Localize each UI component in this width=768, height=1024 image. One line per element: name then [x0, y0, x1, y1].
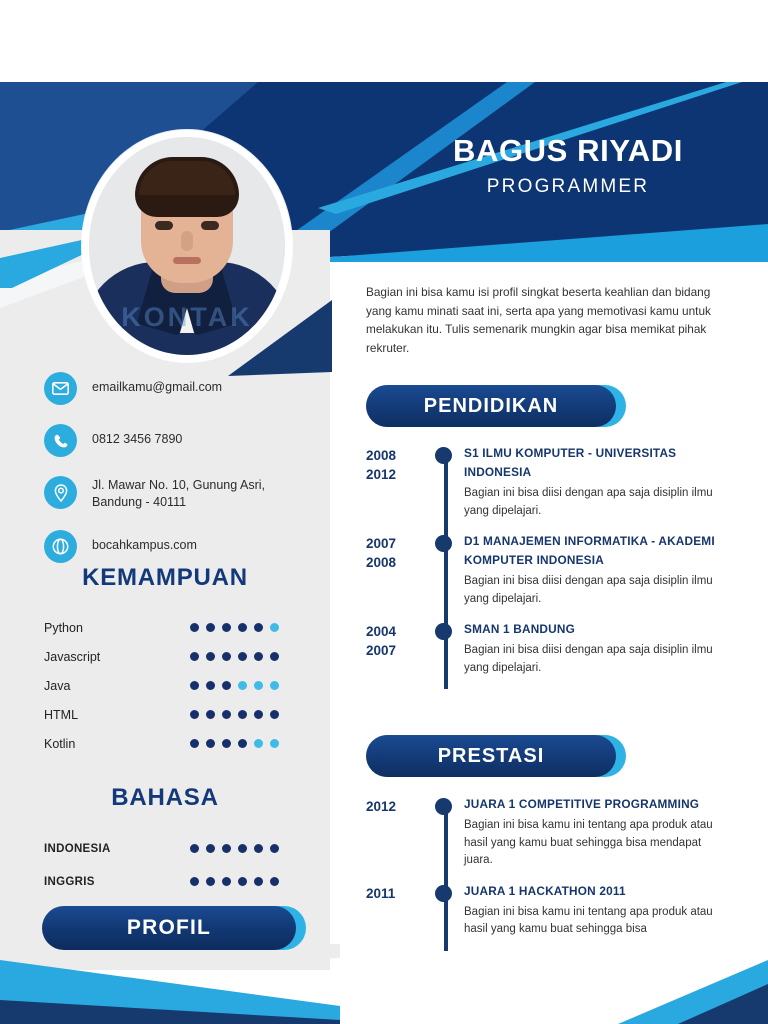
rating-dot	[190, 681, 199, 690]
contact-item-website[interactable]: bocahkampus.com	[44, 530, 314, 563]
timeline-years: 2012	[366, 795, 430, 870]
phone-icon	[44, 424, 77, 457]
timeline-body: S1 ILMU KOMPUTER - UNIVERSITAS INDONESIA…	[460, 444, 716, 520]
skill-row: Javascript	[44, 642, 296, 671]
section-title-education: PENDIDIKAN	[424, 395, 558, 418]
language-rating	[190, 877, 296, 886]
timeline-body: SMAN 1 BANDUNGBagian ini bisa diisi deng…	[460, 620, 716, 677]
avatar-photo: KONTAK	[89, 137, 285, 355]
contact-value-email: emailkamu@gmail.com	[92, 372, 222, 396]
rating-dot	[190, 877, 199, 886]
education-timeline: 20082012S1 ILMU KOMPUTER - UNIVERSITAS I…	[366, 444, 716, 689]
banner-face: PRESTASI	[366, 735, 616, 777]
rating-dot	[254, 623, 263, 632]
rating-dot	[206, 877, 215, 886]
rating-dot	[206, 652, 215, 661]
rating-dot	[254, 877, 263, 886]
timeline-dot-column	[430, 795, 460, 870]
timeline-heading: D1 MANAJEMEN INFORMATIKA - AKADEMI KOMPU…	[464, 532, 716, 570]
timeline-description: Bagian ini bisa kamu ini tentang apa pro…	[464, 904, 716, 939]
profile-summary: Bagian ini bisa kamu isi profil singkat …	[366, 283, 714, 357]
profil-button-label: PROFIL	[127, 916, 211, 940]
language-rating	[190, 844, 296, 853]
skill-row: HTML	[44, 700, 296, 729]
languages-list: INDONESIAINGGRIS	[44, 832, 296, 898]
skill-rating	[190, 623, 296, 632]
rating-dot	[254, 844, 263, 853]
timeline-heading: JUARA 1 HACKATHON 2011	[464, 882, 716, 901]
timeline-description: Bagian ini bisa diisi dengan apa saja di…	[464, 642, 716, 677]
contact-list: emailkamu@gmail.com 0812 3456 7890 Jl. M…	[44, 372, 314, 582]
profil-button[interactable]: PROFIL	[42, 906, 296, 950]
skills-list: PythonJavascriptJavaHTMLKotlin	[44, 613, 296, 758]
rating-dot	[222, 739, 231, 748]
photo-eye-left	[155, 221, 173, 230]
skill-rating	[190, 710, 296, 719]
language-label: INDONESIA	[44, 843, 190, 855]
rating-dot	[238, 710, 247, 719]
timeline-description: Bagian ini bisa kamu ini tentang apa pro…	[464, 817, 716, 870]
timeline-year-start: 2011	[366, 884, 430, 903]
location-icon	[44, 476, 77, 509]
rating-dot	[254, 739, 263, 748]
rating-dot	[206, 623, 215, 632]
skill-label: Java	[44, 679, 190, 693]
timeline-dot	[435, 798, 452, 815]
rating-dot	[270, 623, 279, 632]
rating-dot	[238, 652, 247, 661]
language-row: INDONESIA	[44, 832, 296, 865]
rating-dot	[238, 739, 247, 748]
timeline-dot	[435, 623, 452, 640]
skill-row: Python	[44, 613, 296, 642]
globe-icon	[44, 530, 77, 563]
rating-dot	[206, 710, 215, 719]
contact-item-location[interactable]: Jl. Mawar No. 10, Gunung Asri, Bandung -…	[44, 476, 314, 511]
skill-label: Kotlin	[44, 737, 190, 751]
avatar: KONTAK	[82, 130, 292, 362]
timeline-heading: SMAN 1 BANDUNG	[464, 620, 716, 639]
skill-row: Kotlin	[44, 729, 296, 758]
timeline-years: 20042007	[366, 620, 430, 677]
languages-title: BAHASA	[0, 784, 330, 812]
timeline-years: 2011	[366, 882, 430, 939]
rating-dot	[190, 844, 199, 853]
skill-rating	[190, 681, 296, 690]
rating-dot	[222, 710, 231, 719]
skill-label: Javascript	[44, 650, 190, 664]
contact-value-location: Jl. Mawar No. 10, Gunung Asri, Bandung -…	[92, 476, 314, 511]
rating-dot	[222, 623, 231, 632]
timeline-year-start: 2004	[366, 622, 430, 641]
rating-dot	[270, 681, 279, 690]
contact-value-phone: 0812 3456 7890	[92, 424, 182, 448]
timeline-description: Bagian ini bisa diisi dengan apa saja di…	[464, 573, 716, 608]
timeline-item: 20042007SMAN 1 BANDUNGBagian ini bisa di…	[366, 620, 716, 677]
timeline-years: 20082012	[366, 444, 430, 520]
timeline-dot-column	[430, 532, 460, 608]
rating-dot	[238, 681, 247, 690]
rating-dot	[238, 877, 247, 886]
timeline-year-end: 2008	[366, 553, 430, 572]
rating-dot	[222, 844, 231, 853]
timeline-year-end: 2012	[366, 465, 430, 484]
photo-nose	[181, 231, 193, 251]
rating-dot	[270, 652, 279, 661]
language-label: INGGRIS	[44, 876, 190, 888]
skill-rating	[190, 739, 296, 748]
banner-face: PENDIDIKAN	[366, 385, 616, 427]
candidate-role: PROGRAMMER	[398, 176, 738, 198]
rating-dot	[270, 710, 279, 719]
timeline-dot-column	[430, 882, 460, 939]
rating-dot	[190, 739, 199, 748]
rating-dot	[270, 844, 279, 853]
timeline-heading: JUARA 1 COMPETITIVE PROGRAMMING	[464, 795, 716, 814]
timeline-body: D1 MANAJEMEN INFORMATIKA - AKADEMI KOMPU…	[460, 532, 716, 608]
rating-dot	[206, 681, 215, 690]
rating-dot	[190, 623, 199, 632]
skill-label: Python	[44, 621, 190, 635]
timeline-years: 20072008	[366, 532, 430, 608]
timeline-item: 2011JUARA 1 HACKATHON 2011Bagian ini bis…	[366, 882, 716, 939]
timeline-description: Bagian ini bisa diisi dengan apa saja di…	[464, 485, 716, 520]
timeline-dot	[435, 885, 452, 902]
section-banner-achievements: PRESTASI	[366, 735, 616, 777]
timeline-year-start: 2008	[366, 446, 430, 465]
timeline-dot-column	[430, 444, 460, 520]
contact-item-email[interactable]: emailkamu@gmail.com	[44, 372, 314, 405]
contact-value-website: bocahkampus.com	[92, 530, 197, 554]
rating-dot	[206, 739, 215, 748]
timeline-item: 2012JUARA 1 COMPETITIVE PROGRAMMINGBagia…	[366, 795, 716, 870]
rating-dot	[190, 652, 199, 661]
rating-dot	[238, 623, 247, 632]
rating-dot	[222, 681, 231, 690]
rating-dot	[270, 739, 279, 748]
rating-dot	[254, 681, 263, 690]
rating-dot	[222, 877, 231, 886]
timeline-year-end: 2007	[366, 641, 430, 660]
rating-dot	[238, 844, 247, 853]
timeline-dot	[435, 535, 452, 552]
photo-eye-right	[201, 221, 219, 230]
timeline-item: 20072008D1 MANAJEMEN INFORMATIKA - AKADE…	[366, 532, 716, 608]
language-row: INGGRIS	[44, 865, 296, 898]
section-title-achievements: PRESTASI	[438, 745, 545, 768]
timeline-year-start: 2007	[366, 534, 430, 553]
rating-dot	[190, 710, 199, 719]
rating-dot	[206, 844, 215, 853]
timeline-heading: S1 ILMU KOMPUTER - UNIVERSITAS INDONESIA	[464, 444, 716, 482]
photo-mouth	[173, 257, 201, 264]
skill-row: Java	[44, 671, 296, 700]
skill-label: HTML	[44, 708, 190, 722]
rating-dot	[254, 652, 263, 661]
timeline-body: JUARA 1 COMPETITIVE PROGRAMMINGBagian in…	[460, 795, 716, 870]
rating-dot	[254, 710, 263, 719]
photo-watermark: KONTAK	[89, 302, 285, 333]
skill-rating	[190, 652, 296, 661]
timeline-year-start: 2012	[366, 797, 430, 816]
timeline-item: 20082012S1 ILMU KOMPUTER - UNIVERSITAS I…	[366, 444, 716, 520]
timeline-body: JUARA 1 HACKATHON 2011Bagian ini bisa ka…	[460, 882, 716, 939]
contact-item-phone[interactable]: 0812 3456 7890	[44, 424, 314, 457]
timeline-dot	[435, 447, 452, 464]
email-icon	[44, 372, 77, 405]
achievements-timeline: 2012JUARA 1 COMPETITIVE PROGRAMMINGBagia…	[366, 795, 716, 951]
resume-page: BAGUS RIYADI PROGRAMMER KONTAK	[0, 0, 768, 1024]
profil-button-face: PROFIL	[42, 906, 296, 950]
rating-dot	[222, 652, 231, 661]
section-banner-education: PENDIDIKAN	[366, 385, 616, 427]
rating-dot	[270, 877, 279, 886]
timeline-dot-column	[430, 620, 460, 677]
candidate-name: BAGUS RIYADI	[398, 133, 738, 169]
